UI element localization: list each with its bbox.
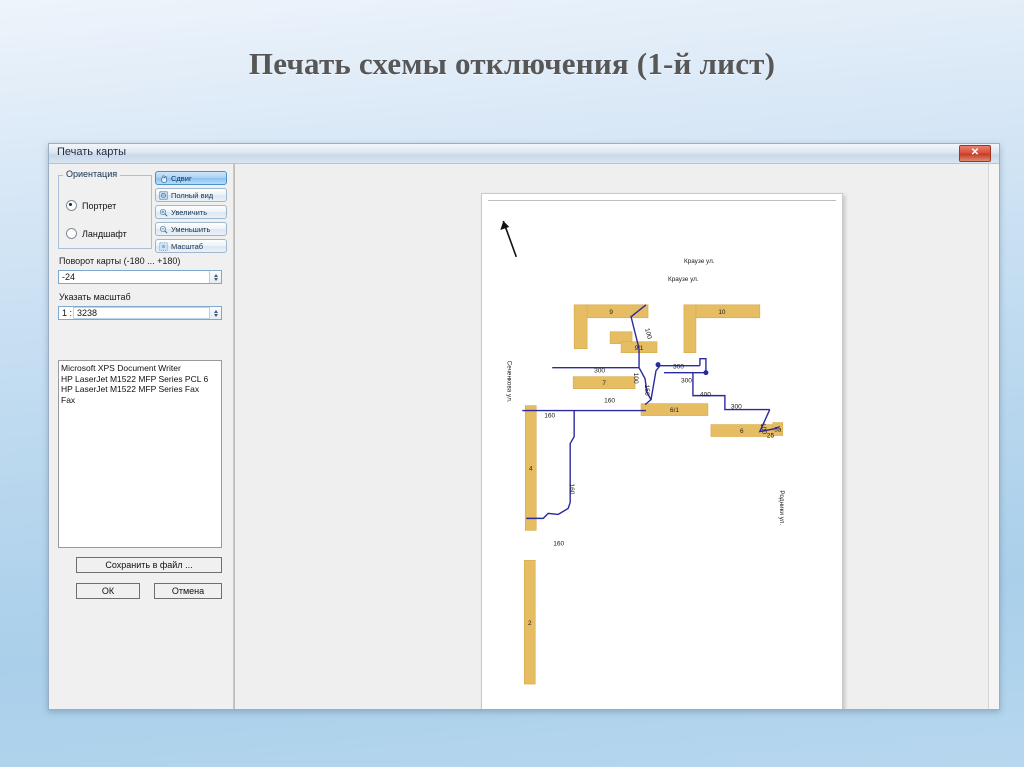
printer-list[interactable]: Microsoft XPS Document Writer HP LaserJe… [58,360,222,548]
tool-zoom-out-label: Уменьшить [171,225,210,234]
map-street-label: Краузе ул. [684,258,715,265]
list-item[interactable]: Fax [61,395,221,406]
map-pipe-label: 400 [700,392,711,399]
tool-pan-label: Сдвиг [171,174,192,183]
map-pipe-label: 25 [767,433,775,440]
zoom-in-icon [159,208,168,217]
tool-full-view-button[interactable]: Полный вид [155,188,227,202]
tool-zoom-in-button[interactable]: Увеличить [155,205,227,219]
map-building [684,305,696,353]
map-canvas: 9109/176/165а42 [488,200,836,709]
list-item[interactable]: HP LaserJet M1522 MFP Series PCL 6 [61,374,221,385]
list-item[interactable]: Microsoft XPS Document Writer [61,363,221,374]
rotation-spinner[interactable] [209,271,221,283]
map-pipe-label: 300 [731,404,742,411]
orientation-group: Ориентация Портрет Ландшафт [58,175,152,249]
scale-label: Указать масштаб [59,292,131,302]
save-to-file-button[interactable]: Сохранить в файл ... [76,557,222,573]
scale-spinner[interactable] [209,307,221,319]
map-building-label: 6 [740,428,744,435]
page-sheet: 9109/176/165а42 [481,193,843,709]
map-pipe-label: 150 [643,385,650,396]
dialog-title-text: Печать карты [57,146,126,158]
radio-landscape-label: Ландшафт [82,229,127,239]
map-pipe-label: 160 [568,483,575,494]
map-building-label: 9 [609,309,613,316]
map-pipe-label: 100 [632,373,639,384]
dialog-body: Ориентация Портрет Ландшафт Сдвиг [49,164,999,709]
map-buildings: 9109/176/165а42 [524,305,782,684]
map-pipe-label: 100 [643,327,653,340]
zoom-out-icon [159,225,168,234]
scale-icon [159,242,168,251]
map-pipe-label: 300 [673,364,684,371]
map-drawing: 9109/176/165а42 [488,201,836,709]
ok-button[interactable]: ОК [76,583,140,599]
map-building-label: 10 [718,309,726,316]
map-building-label: 2 [528,620,532,627]
radio-portrait[interactable]: Портрет [66,200,116,211]
map-street-label: Родники ул. [778,490,785,525]
dialog-titlebar: Печать карты ✕ [49,144,999,164]
tool-full-view-label: Полный вид [171,191,213,200]
map-pipe-label: 160 [544,413,555,420]
rotation-field[interactable]: -24 [58,270,222,284]
map-tools-toolbar: Сдвиг Полный вид Увеличить [155,171,227,256]
radio-portrait-mark[interactable] [66,200,77,211]
radio-landscape-mark[interactable] [66,228,77,239]
map-building [574,305,587,349]
map-street-label: Сеченкова ул. [505,361,512,403]
full-view-icon [159,191,168,200]
scale-prefix: 1 : [59,308,74,318]
radio-landscape[interactable]: Ландшафт [66,228,127,239]
tool-zoom-in-label: Увеличить [171,208,207,217]
rotation-label: Поворот карты (-180 ... +180) [59,256,180,266]
map-labels: Краузе ул.Краузе ул.Сеченкова ул.Родники… [505,258,784,547]
map-pipe-label: 160 [553,540,564,547]
radio-portrait-label: Портрет [82,201,116,211]
map-street-label: Краузе ул. [668,276,699,283]
tool-scale-label: Масштаб [171,242,203,251]
map-building-label: 7 [602,380,606,387]
cancel-button[interactable]: Отмена [154,583,222,599]
page-title: Печать схемы отключения (1-й лист) [0,46,1024,82]
map-pipe-label: 160 [604,398,615,405]
print-map-dialog: Печать карты ✕ Ориентация Портрет Ландша… [48,143,1000,710]
orientation-legend: Ориентация [63,169,120,179]
map-building-label: 4 [529,466,533,473]
print-preview-area[interactable]: 9109/176/165а42 [234,164,999,709]
close-icon[interactable]: ✕ [959,145,991,162]
hand-icon [159,174,168,183]
scale-field[interactable]: 1 : 3238 [58,306,222,320]
map-pipe-label: 300 [594,368,605,375]
preview-scrollbar[interactable] [988,164,999,709]
rotation-value: -24 [59,272,209,282]
north-arrow-icon [500,221,516,257]
map-pipe-label: 300 [681,378,692,385]
settings-panel: Ориентация Портрет Ландшафт Сдвиг [49,164,234,709]
tool-zoom-out-button[interactable]: Уменьшить [155,222,227,236]
list-item[interactable]: HP LaserJet M1522 MFP Series Fax [61,384,221,395]
map-building-label: 6/1 [670,407,679,414]
scale-value[interactable]: 3238 [74,308,209,318]
tool-pan-button[interactable]: Сдвиг [155,171,227,185]
tool-scale-button[interactable]: Масштаб [155,239,227,253]
